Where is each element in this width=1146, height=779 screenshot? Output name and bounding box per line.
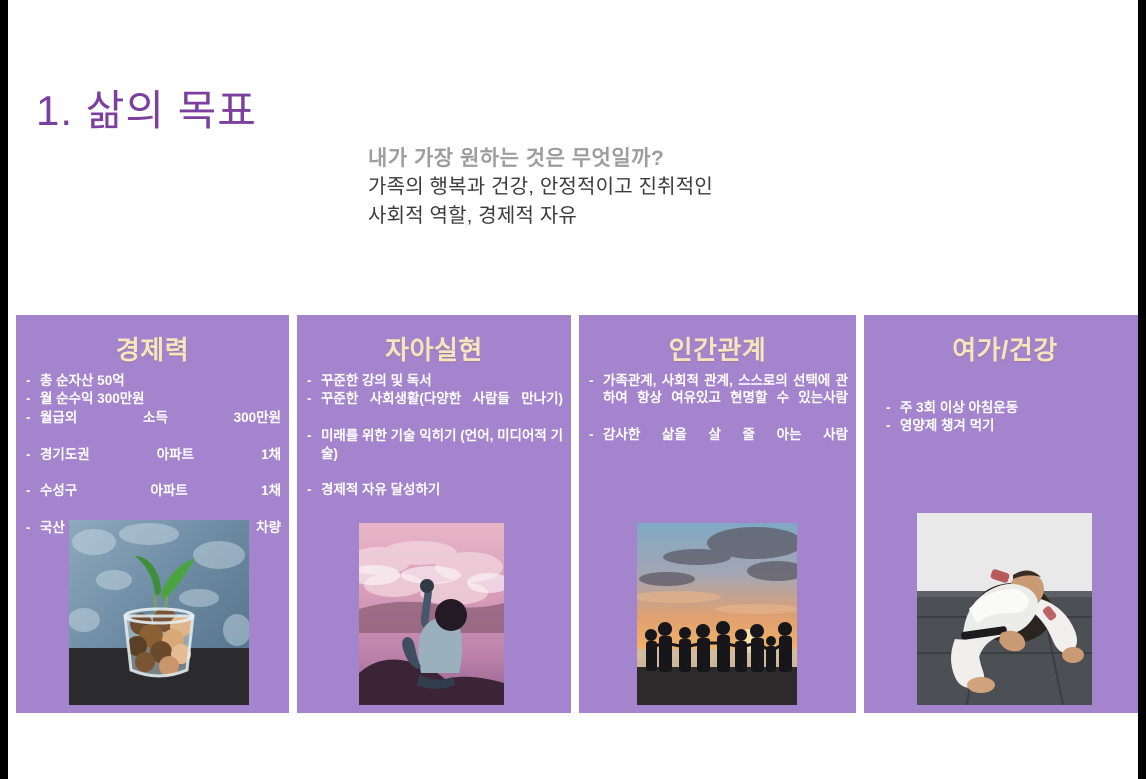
column-panel-self-realization: 자아실현 - 꾸준한 강의 및 독서 - 꾸준한 사회생활(다양한 사람들 만나… <box>297 315 571 713</box>
bullet-list-self-realization: - 꾸준한 강의 및 독서 - 꾸준한 사회생활(다양한 사람들 만나기) - … <box>297 372 571 500</box>
bullet-text: 꾸준한 강의 및 독서 <box>321 372 563 390</box>
bullet-text: 가족관계, 사회적 관계, 스스로의 선택에 관하여 항상 여유있고 현명할 수… <box>603 372 848 425</box>
list-item: - 주 3회 이상 아침운동 <box>886 399 1138 417</box>
column-panel-economy: 경제력 - 총 순자산 50억 - 월 순수익 300만원 - 월급외 소득 3… <box>16 315 289 713</box>
bullet-text: 경기도권 아파트 1채 <box>40 446 281 482</box>
bullet-text: 월급외 소득 300만원 <box>40 409 281 445</box>
bullet-list-leisure-health: - 주 3회 이상 아침운동 - 영양제 챙겨 먹기 <box>864 399 1138 436</box>
list-item: - 꾸준한 사회생활(다양한 사람들 만나기) <box>307 390 563 426</box>
bullet-marker-icon: - <box>307 372 321 390</box>
subtitle-block: 내가 가장 원하는 것은 무엇일까? 가족의 행복과 건강, 안정적이고 진취적… <box>368 145 968 231</box>
bullet-marker-icon: - <box>307 390 321 426</box>
bullet-text: 꾸준한 사회생활(다양한 사람들 만나기) <box>321 390 563 426</box>
bullet-text: 영양제 챙겨 먹기 <box>900 417 1138 435</box>
bullet-marker-icon: - <box>589 426 603 462</box>
column-title-relationships: 인간관계 <box>579 336 856 365</box>
person-raising-fist-on-mountain-photo <box>359 523 504 705</box>
bullet-text: 총 순자산 50억 <box>40 372 281 390</box>
list-item: - 수성구 아파트 1채 <box>26 482 281 518</box>
column-title-leisure-health: 여가/건강 <box>864 336 1138 365</box>
bullet-marker-icon: - <box>26 390 40 408</box>
bullet-marker-icon: - <box>26 482 40 518</box>
list-item: - 경제적 자유 달성하기 <box>307 481 563 499</box>
bullet-text: 감사한 삶을 살 줄 아는 사람 <box>603 426 848 462</box>
bullet-text: 수성구 아파트 1채 <box>40 482 281 518</box>
bullet-text: 월 순수익 300만원 <box>40 390 281 408</box>
column-title-self-realization: 자아실현 <box>297 336 571 365</box>
bullet-marker-icon: - <box>307 481 321 499</box>
bullet-marker-icon: - <box>26 446 40 482</box>
subtitle-line-1: 가족의 행복과 건강, 안정적이고 진취적인 <box>368 173 968 202</box>
bullet-marker-icon: - <box>886 399 900 417</box>
page-title: 1. 삶의 목표 <box>36 88 257 134</box>
list-item: - 미래를 위한 기술 익히기 (언어, 미디어적 기술) <box>307 427 563 480</box>
people-holding-hands-at-sunset-photo <box>637 523 797 705</box>
slide-canvas: 1. 삶의 목표 내가 가장 원하는 것은 무엇일까? 가족의 행복과 건강, … <box>8 0 1138 779</box>
slide-root: 1. 삶의 목표 내가 가장 원하는 것은 무엇일까? 가족의 행복과 건강, … <box>0 0 1146 779</box>
list-item: - 가족관계, 사회적 관계, 스스로의 선택에 관하여 항상 여유있고 현명할… <box>589 372 848 425</box>
list-item: - 월급외 소득 300만원 <box>26 409 281 445</box>
bullet-marker-icon: - <box>886 417 900 435</box>
list-item: - 월 순수익 300만원 <box>26 390 281 408</box>
bullet-marker-icon: - <box>26 519 40 555</box>
bullet-marker-icon: - <box>307 427 321 480</box>
list-item: - 감사한 삶을 살 줄 아는 사람 <box>589 426 848 462</box>
column-panel-leisure-health: 여가/건강 - 주 3회 이상 아침운동 - 영양제 챙겨 먹기 <box>864 315 1138 713</box>
bullet-text: 경제적 자유 달성하기 <box>321 481 563 499</box>
columns-container: 경제력 - 총 순자산 50억 - 월 순수익 300만원 - 월급외 소득 3… <box>8 315 1138 713</box>
column-title-economy: 경제력 <box>16 336 289 365</box>
bullet-marker-icon: - <box>589 372 603 425</box>
jiu-jitsu-grappling-photo <box>917 513 1092 705</box>
subtitle-line-2: 사회적 역할, 경제적 자유 <box>368 202 968 231</box>
column-panel-relationships: 인간관계 - 가족관계, 사회적 관계, 스스로의 선택에 관하여 항상 여유있… <box>579 315 856 713</box>
list-item: - 경기도권 아파트 1채 <box>26 446 281 482</box>
bullet-marker-icon: - <box>26 372 40 390</box>
bullet-text: 미래를 위한 기술 익히기 (언어, 미디어적 기술) <box>321 427 563 480</box>
coins-in-glass-jar-with-sprout-photo <box>69 520 249 705</box>
list-item: - 총 순자산 50억 <box>26 372 281 390</box>
list-item: - 영양제 챙겨 먹기 <box>886 417 1138 435</box>
bullet-list-relationships: - 가족관계, 사회적 관계, 스스로의 선택에 관하여 항상 여유있고 현명할… <box>579 372 856 462</box>
bullet-marker-icon: - <box>26 409 40 445</box>
subtitle-question: 내가 가장 원하는 것은 무엇일까? <box>368 145 968 173</box>
bullet-text: 주 3회 이상 아침운동 <box>900 399 1138 417</box>
list-item: - 꾸준한 강의 및 독서 <box>307 372 563 390</box>
